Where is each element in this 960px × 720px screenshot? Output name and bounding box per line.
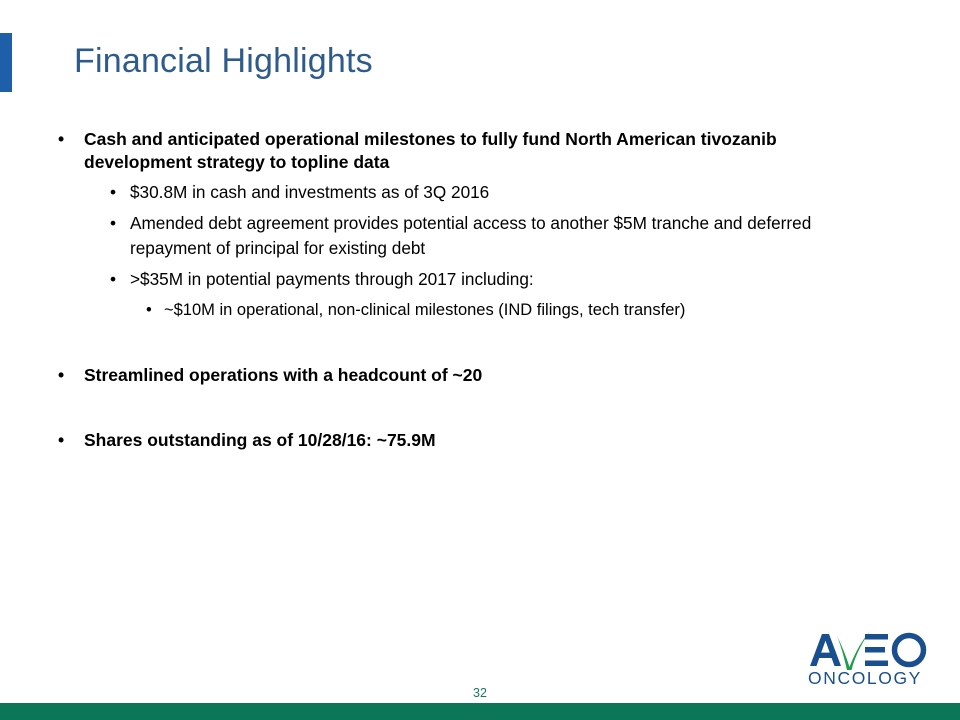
bullet-item-7: • Shares outstanding as of 10/28/16: ~75… xyxy=(0,429,960,452)
bullet-text: Streamlined operations with a headcount … xyxy=(84,364,840,387)
bullet-text: Cash and anticipated operational milesto… xyxy=(84,128,840,174)
page-title: Financial Highlights xyxy=(74,42,373,81)
aveo-oncology-logo: ONCOLOGY xyxy=(806,626,952,688)
bullet-item-1: • Cash and anticipated operational miles… xyxy=(0,128,960,174)
bullet-marker-icon: • xyxy=(58,128,64,151)
bullet-text: Amended debt agreement provides potentia… xyxy=(130,211,888,261)
logo-tagline: ONCOLOGY xyxy=(808,668,922,688)
bullet-item-4: • >$35M in potential payments through 20… xyxy=(0,267,960,292)
footer-bar xyxy=(0,703,960,720)
bullet-item-6: • Streamlined operations with a headcoun… xyxy=(0,364,960,387)
bullet-marker-icon: • xyxy=(110,267,116,292)
bullet-marker-icon: • xyxy=(110,180,116,205)
bullet-text: >$35M in potential payments through 2017… xyxy=(130,267,888,292)
bullet-list: • Cash and anticipated operational miles… xyxy=(0,128,960,452)
page-number: 32 xyxy=(0,686,960,700)
bullet-text: $30.8M in cash and investments as of 3Q … xyxy=(130,180,888,205)
bullet-marker-icon: • xyxy=(146,298,152,322)
bullet-item-5: • ~$10M in operational, non-clinical mil… xyxy=(0,298,960,322)
bullet-marker-icon: • xyxy=(110,211,116,236)
slide-canvas: Financial Highlights • Cash and anticipa… xyxy=(0,0,960,720)
bullet-text: ~$10M in operational, non-clinical miles… xyxy=(164,298,900,322)
bullet-marker-icon: • xyxy=(58,364,64,387)
bullet-marker-icon: • xyxy=(58,429,64,452)
logo-icon: ONCOLOGY xyxy=(806,626,952,688)
bullet-item-3: • Amended debt agreement provides potent… xyxy=(0,211,960,261)
spacer xyxy=(0,322,960,364)
bullet-item-2: • $30.8M in cash and investments as of 3… xyxy=(0,180,960,205)
bullet-text: Shares outstanding as of 10/28/16: ~75.9… xyxy=(84,429,840,452)
title-accent-bar xyxy=(0,33,12,92)
spacer xyxy=(0,387,960,429)
